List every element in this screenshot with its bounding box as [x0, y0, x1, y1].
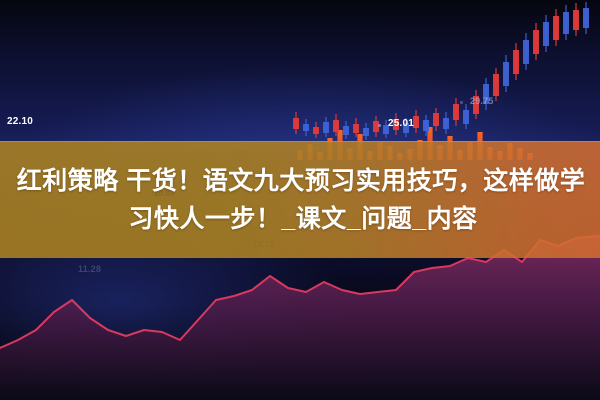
promo-banner: 22.10 25.01 29.75 10.07 18.75 11.28 红利策略… [0, 0, 600, 400]
price-marker-dot-25 [378, 124, 381, 127]
trend-area-series [0, 236, 600, 400]
price-label-29-75: 29.75 [470, 96, 494, 106]
candlestick-series [293, 2, 589, 140]
price-label-22-10: 22.10 [7, 116, 33, 127]
price-marker-dot-29 [460, 101, 463, 104]
headline-text-block: 红利策略 干货！语文九大预习实用技巧，这样做学 习快人一步！_课文_问题_内容 [0, 141, 600, 258]
price-label-25-01: 25.01 [388, 118, 414, 129]
headline-line-2: 习快人一步！_课文_问题_内容 [122, 202, 477, 236]
headline-line-1: 红利策略 干货！语文九大预习实用技巧，这样做学 [15, 164, 585, 198]
price-label-11-28: 11.28 [78, 264, 101, 274]
